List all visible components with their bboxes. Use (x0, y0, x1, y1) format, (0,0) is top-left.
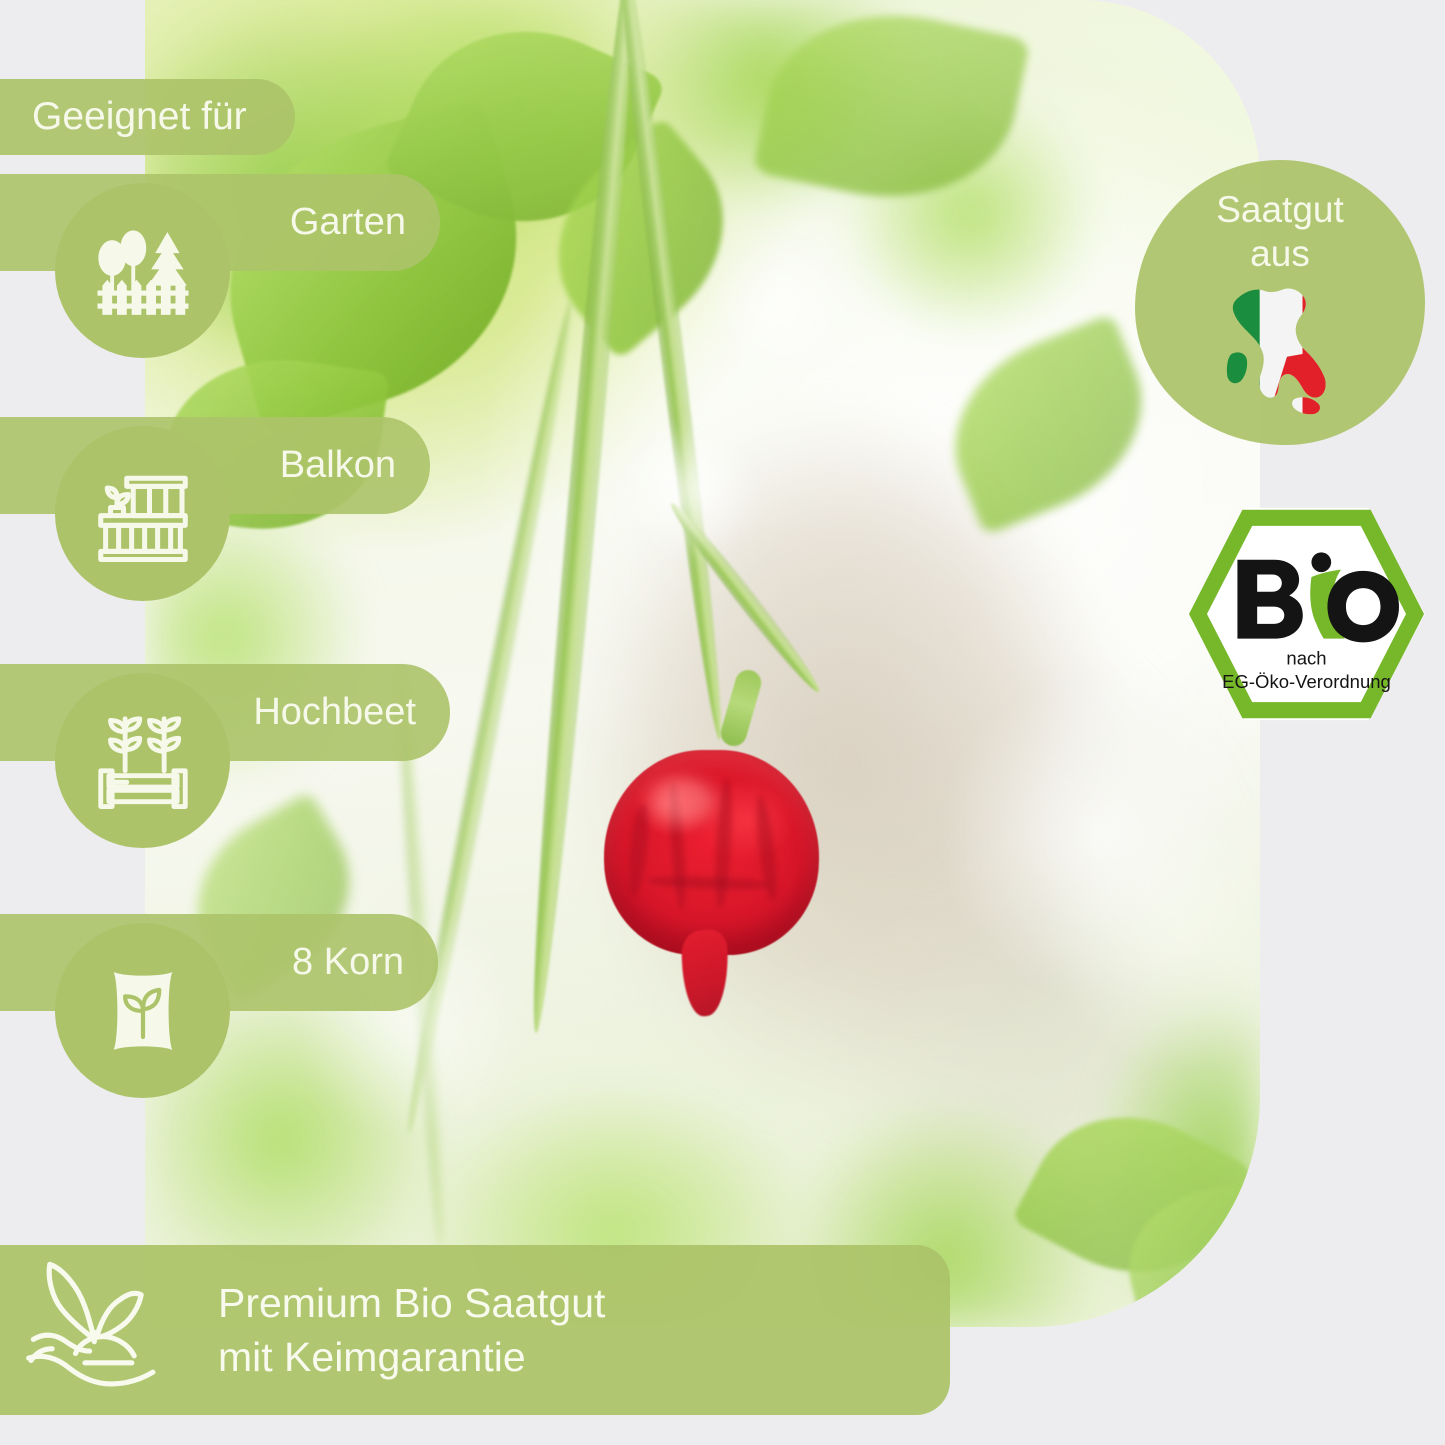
raised-bed-icon (55, 673, 230, 848)
italy-map-icon (1213, 279, 1348, 419)
product-infographic: Geeignet für Garten (0, 0, 1445, 1445)
suitability-label-korn: 8 Korn (292, 941, 404, 984)
trees-fence-icon (55, 183, 230, 358)
quality-banner: Premium Bio Saatgut mit Keimgarantie (0, 1245, 950, 1415)
seed-packet-icon (55, 923, 230, 1098)
origin-badge: Saatgut aus (1135, 160, 1425, 445)
italy-sardinia (1215, 344, 1254, 391)
suitability-header-pill: Geeignet für (0, 79, 295, 155)
italy-mainland (1215, 279, 1345, 419)
origin-label-line2: aus (1250, 232, 1310, 276)
bio-seal-subline1: nach (1286, 648, 1326, 669)
page-title: Geeignet für (32, 95, 247, 139)
quality-banner-text: Premium Bio Saatgut mit Keimgarantie (218, 1276, 605, 1384)
hand-sprout-icon (24, 1255, 174, 1405)
suitability-label-balkon: Balkon (280, 444, 396, 487)
suitability-label-hochbeet: Hochbeet (253, 691, 416, 734)
bio-seal-subline2: EG-Öko-Verordnung (1222, 671, 1391, 692)
italy-sicily (1286, 393, 1330, 419)
suitability-label-garten: Garten (290, 201, 406, 244)
origin-label-line1: Saatgut (1216, 188, 1344, 232)
bio-hexagon-seal-icon: nach EG-Öko-Verordnung (1183, 503, 1430, 725)
balcony-icon (55, 426, 230, 601)
